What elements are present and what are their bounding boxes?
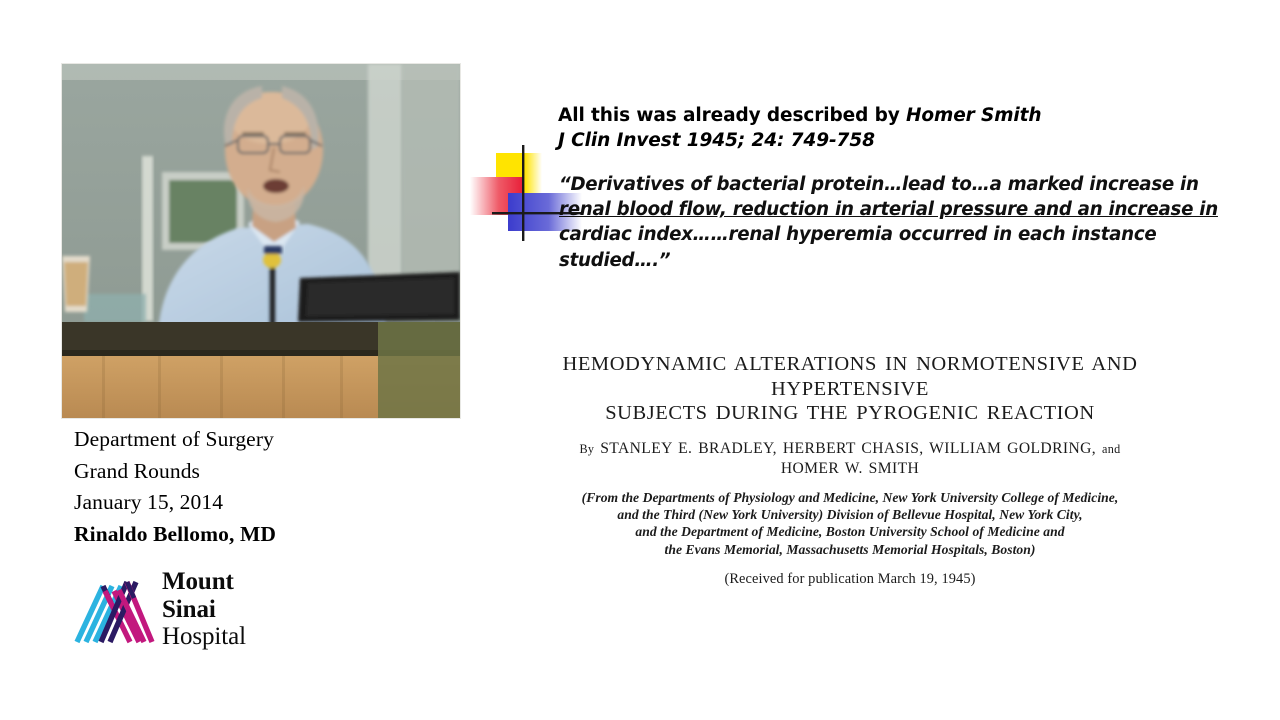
logo-word-line-3: Hospital: [162, 623, 246, 651]
caption-line-1: Department of Surgery: [74, 424, 474, 456]
caption-line-3: January 15, 2014: [74, 487, 474, 519]
mount-sinai-hospital-logo: Mount Sinai Hospital: [74, 570, 294, 660]
journal-title-line-2: SUBJECTS DURING THE PYROGENIC REACTION: [480, 401, 1220, 426]
affiliation-line-4: the Evans Memorial, Massachusetts Memori…: [480, 541, 1220, 558]
quote-line-3: cardiac index……renal hyperemia occurred …: [559, 222, 1209, 247]
mountain-stripes-icon: [74, 572, 158, 644]
quote-block: “Derivatives of bacterial protein…lead t…: [559, 172, 1209, 273]
logo-word-line-1: Mount: [162, 568, 246, 596]
headline-line-1: All this was already described by Homer …: [558, 103, 1198, 128]
quote-line-2-underlined: renal blood flow, reduction in arterial …: [559, 197, 1209, 222]
quote-line-1: “Derivatives of bacterial protein…lead t…: [559, 172, 1209, 197]
headline-plain: All this was already described by: [558, 105, 906, 126]
affiliation-line-2: and the Third (New York University) Divi…: [480, 506, 1220, 523]
quote-line-4: studied….”: [559, 248, 1209, 273]
headline-block: All this was already described by Homer …: [558, 103, 1198, 153]
affiliation-line-1: (From the Departments of Physiology and …: [480, 489, 1220, 506]
slide-caption: Department of Surgery Grand Rounds Janua…: [74, 424, 474, 550]
presentation-slide: Department of Surgery Grand Rounds Janua…: [0, 0, 1280, 720]
authors-by-label: By: [580, 442, 595, 456]
mount-sinai-wordmark: Mount Sinai Hospital: [162, 568, 246, 651]
speaker-photo: [62, 64, 460, 418]
caption-line-2: Grand Rounds: [74, 456, 474, 488]
journal-authors-line-2: HOMER W. SMITH: [480, 459, 1220, 478]
affiliation-line-3: and the Department of Medicine, Boston U…: [480, 523, 1220, 540]
authors-names-1: STANLEY E. BRADLEY, HERBERT CHASIS, WILL…: [600, 440, 1096, 457]
headline-author: Homer Smith: [906, 105, 1041, 126]
journal-affiliations: (From the Departments of Physiology and …: [480, 489, 1220, 559]
presenter-name: Rinaldo Bellomo, MD: [74, 519, 474, 551]
speaker-photo-illustration: [62, 64, 460, 418]
journal-received-date: (Received for publication March 19, 1945…: [480, 570, 1220, 588]
headline-citation: J Clin Invest 1945; 24: 749-758: [558, 128, 1198, 153]
logo-word-line-2: Sinai: [162, 596, 246, 624]
journal-authors-line-1: By STANLEY E. BRADLEY, HERBERT CHASIS, W…: [480, 439, 1220, 459]
journal-article-header: HEMODYNAMIC ALTERATIONS IN NORMOTENSIVE …: [480, 352, 1220, 588]
mount-sinai-mountain-icon: [74, 572, 158, 644]
authors-and-label: and: [1102, 442, 1121, 456]
journal-authors: By STANLEY E. BRADLEY, HERBERT CHASIS, W…: [480, 439, 1220, 478]
journal-title-line-1: HEMODYNAMIC ALTERATIONS IN NORMOTENSIVE …: [480, 352, 1220, 401]
journal-title: HEMODYNAMIC ALTERATIONS IN NORMOTENSIVE …: [480, 352, 1220, 426]
